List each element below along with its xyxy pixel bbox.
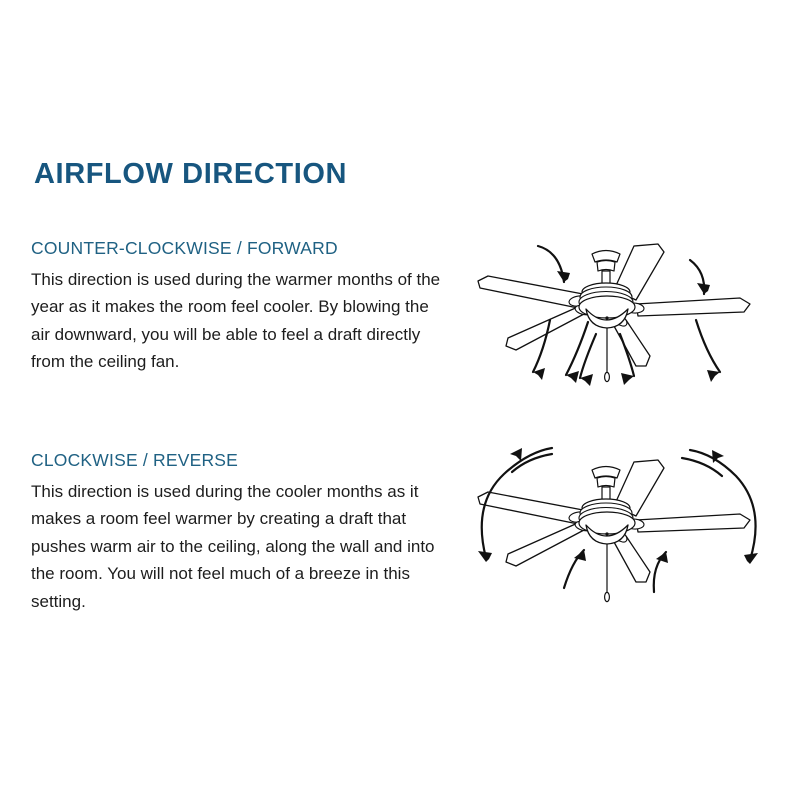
section-clockwise-reverse: CLOCKWISE / REVERSE This direction is us… <box>31 450 451 616</box>
section-body-clockwise-reverse: This direction is used during the cooler… <box>31 478 449 616</box>
fan-downward-svg <box>468 238 768 423</box>
section-heading-counter-clockwise-forward: COUNTER-CLOCKWISE / FORWARD <box>31 238 451 260</box>
page-title: AIRFLOW DIRECTION <box>34 159 347 191</box>
fan-upward-svg <box>468 432 768 632</box>
airflow-direction-page: AIRFLOW DIRECTION COUNTER-CLOCKWISE / FO… <box>0 0 800 800</box>
section-counter-clockwise-forward: COUNTER-CLOCKWISE / FORWARD This directi… <box>31 238 451 376</box>
ceiling-fan-upward-airflow-diagram <box>468 432 768 632</box>
ceiling-fan-downward-airflow-diagram <box>468 238 768 423</box>
section-heading-clockwise-reverse: CLOCKWISE / REVERSE <box>31 450 451 472</box>
section-body-counter-clockwise-forward: This direction is used during the warmer… <box>31 266 449 376</box>
